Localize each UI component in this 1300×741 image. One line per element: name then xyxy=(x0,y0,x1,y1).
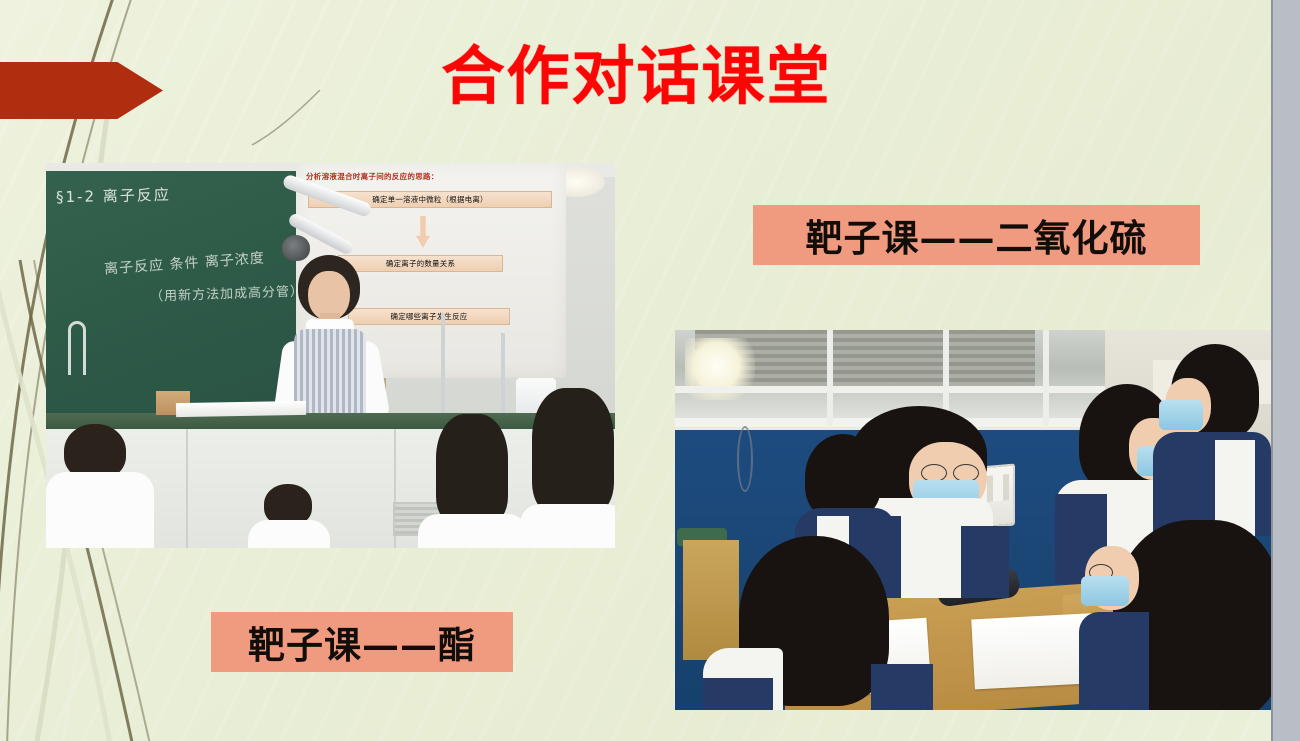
student-back-4 xyxy=(520,388,615,548)
teacher-at-blackboard-photo: §1-2 离子反应 离子反应 条件 离子浓度 （用新方法加成高分管） 分析溶液混… xyxy=(46,163,615,548)
cabinet-seam xyxy=(186,429,188,548)
face-mask xyxy=(1081,576,1129,606)
student-body xyxy=(520,504,615,548)
window-divider xyxy=(1043,330,1049,426)
blackboard-note-1: 离子反应 条件 离子浓度 xyxy=(103,247,265,278)
student-back-1 xyxy=(46,424,154,548)
papers-on-bench xyxy=(176,401,306,417)
window-divider xyxy=(827,330,833,426)
uniform-navy xyxy=(871,664,933,710)
student-hair xyxy=(436,414,508,524)
label-so2-lesson: 靶子课——二氧化硫 xyxy=(753,205,1200,265)
student-foreground-right xyxy=(1079,520,1273,710)
lab-stand-rod xyxy=(441,313,445,423)
page-title: 合作对话课堂 xyxy=(0,44,1273,110)
uniform-navy xyxy=(961,526,1009,598)
uniform-navy xyxy=(1079,612,1149,710)
student-back-2 xyxy=(246,484,332,548)
face-mask xyxy=(1159,400,1203,430)
student-body xyxy=(46,472,154,548)
slide-canvas: 合作对话课堂 §1-2 离子反应 离子反应 条件 离子浓度 （用新方法加成高分管… xyxy=(0,0,1273,741)
student-body xyxy=(248,520,330,548)
student-far-right-1 xyxy=(1153,344,1273,534)
window-frame xyxy=(675,386,1105,393)
student-hair xyxy=(532,388,614,514)
board-hook xyxy=(68,321,86,375)
student-back-3 xyxy=(418,414,528,548)
uniform-navy xyxy=(703,678,773,710)
down-arrow-icon xyxy=(416,216,430,248)
label-ester-lesson: 靶子课——酯 xyxy=(211,612,513,672)
students-group-work-photo xyxy=(675,330,1273,710)
student-body xyxy=(418,514,528,548)
right-gutter xyxy=(1273,0,1300,741)
student-foreground-left xyxy=(703,536,933,710)
window-cord xyxy=(737,426,753,492)
projection-heading: 分析溶液混合时离子间的反应的思路： xyxy=(306,171,556,182)
blackboard-heading: §1-2 离子反应 xyxy=(56,184,171,207)
lab-stand-rod-2 xyxy=(501,333,505,423)
